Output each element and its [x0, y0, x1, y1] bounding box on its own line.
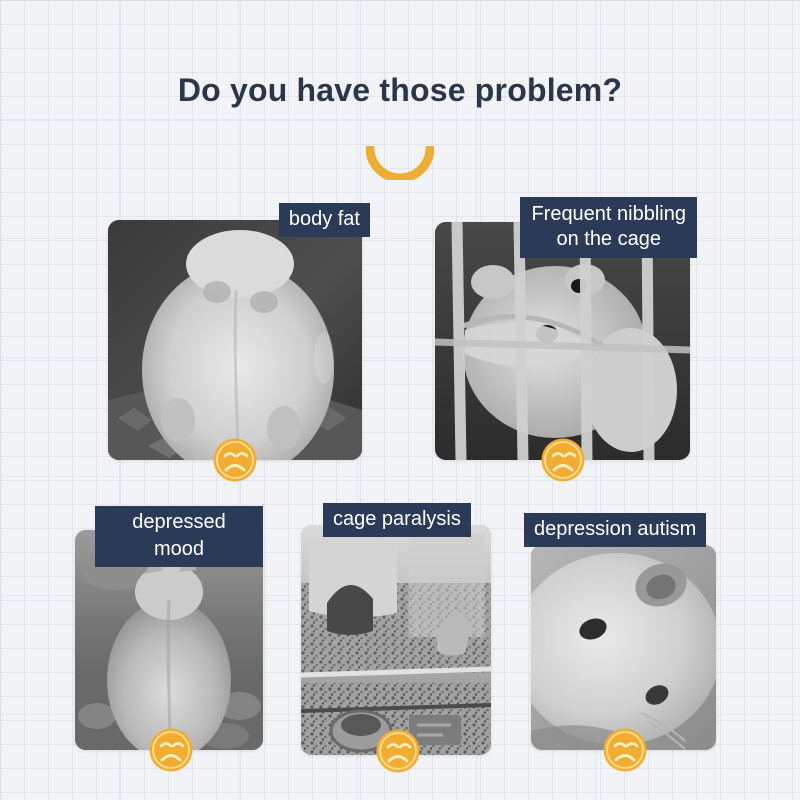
problem-card-depressed-mood[interactable]: depressed mood	[75, 530, 263, 750]
card-photo-depression-autism	[531, 545, 716, 750]
sad-face-icon-depression-autism	[602, 727, 648, 773]
card-label-frequent-nibbling: Frequent nibbling on the cage	[520, 197, 697, 258]
page-title: Do you have those problem?	[0, 72, 800, 109]
infographic-stage: Do you have those problem?	[0, 0, 800, 800]
problem-card-frequent-nibbling[interactable]: Frequent nibbling on the cage	[435, 222, 690, 460]
sad-face-icon-frequent-nibbling	[540, 437, 586, 483]
yellow-smile-arc-icon	[366, 146, 434, 180]
card-photo-cage-paralysis	[301, 525, 491, 755]
problem-card-body-fat[interactable]: body fat	[108, 220, 362, 460]
sad-face-icon-body-fat	[212, 437, 258, 483]
card-photo-body-fat	[108, 220, 362, 460]
card-label-depression-autism: depression autism	[524, 513, 706, 547]
sad-face-icon-depressed-mood	[148, 727, 194, 773]
problem-card-cage-paralysis[interactable]: cage paralysis	[301, 525, 491, 755]
card-label-cage-paralysis: cage paralysis	[323, 503, 471, 537]
card-label-depressed-mood: depressed mood	[95, 506, 263, 567]
problem-card-depression-autism[interactable]: depression autism	[531, 545, 716, 750]
card-label-body-fat: body fat	[279, 203, 370, 237]
sad-face-icon-cage-paralysis	[375, 728, 421, 774]
